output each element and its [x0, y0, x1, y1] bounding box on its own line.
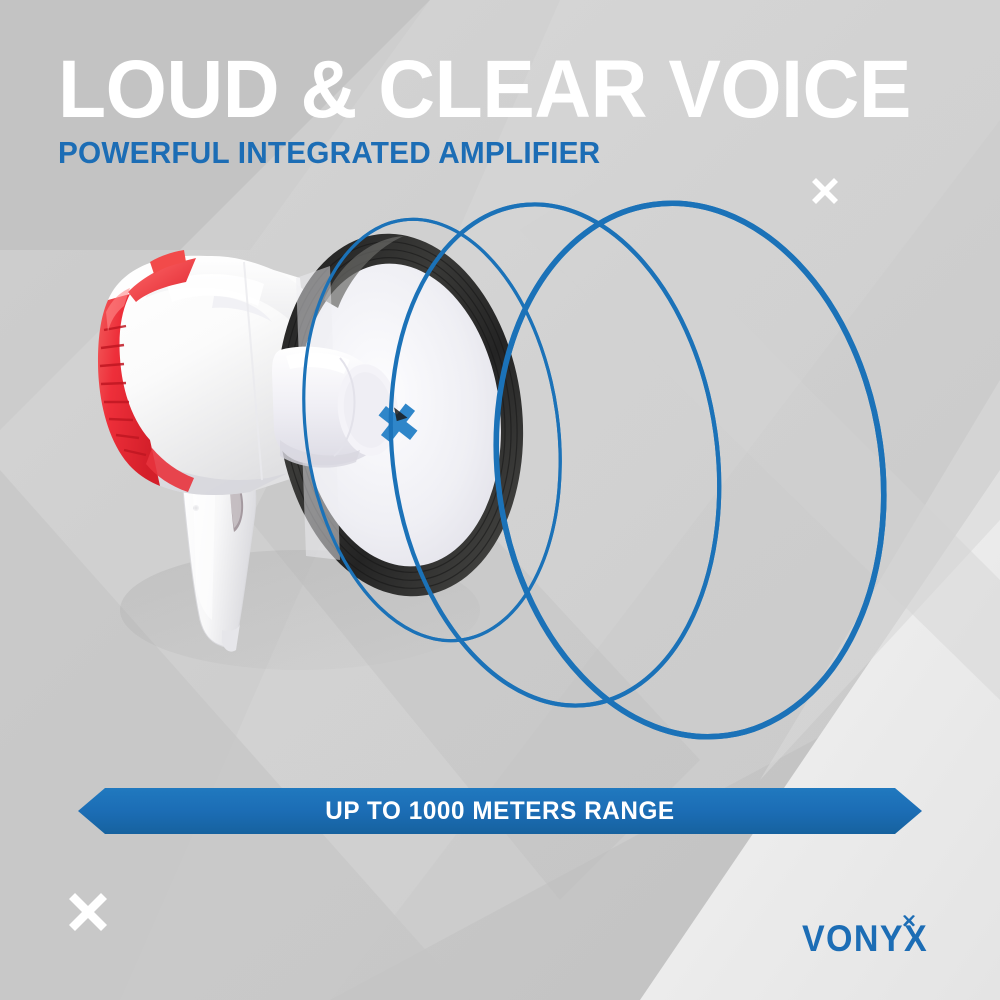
x-mark-bottom-left [62, 886, 114, 938]
product-marketing-banner: LOUD & CLEAR VOICE POWERFUL INTEGRATED A… [0, 0, 1000, 1000]
range-banner: UP TO 1000 METERS RANGE [78, 786, 922, 836]
sound-wave-ring-1-front [278, 203, 587, 658]
page-title: LOUD & CLEAR VOICE [58, 48, 911, 132]
sound-wave-ring-3-front [463, 178, 918, 762]
x-mark-top-right [806, 172, 844, 210]
banner-label: UP TO 1000 METERS RANGE [91, 786, 910, 836]
page-subtitle: POWERFUL INTEGRATED AMPLIFIER [58, 136, 600, 170]
logo-x-accent-icon [901, 914, 917, 928]
